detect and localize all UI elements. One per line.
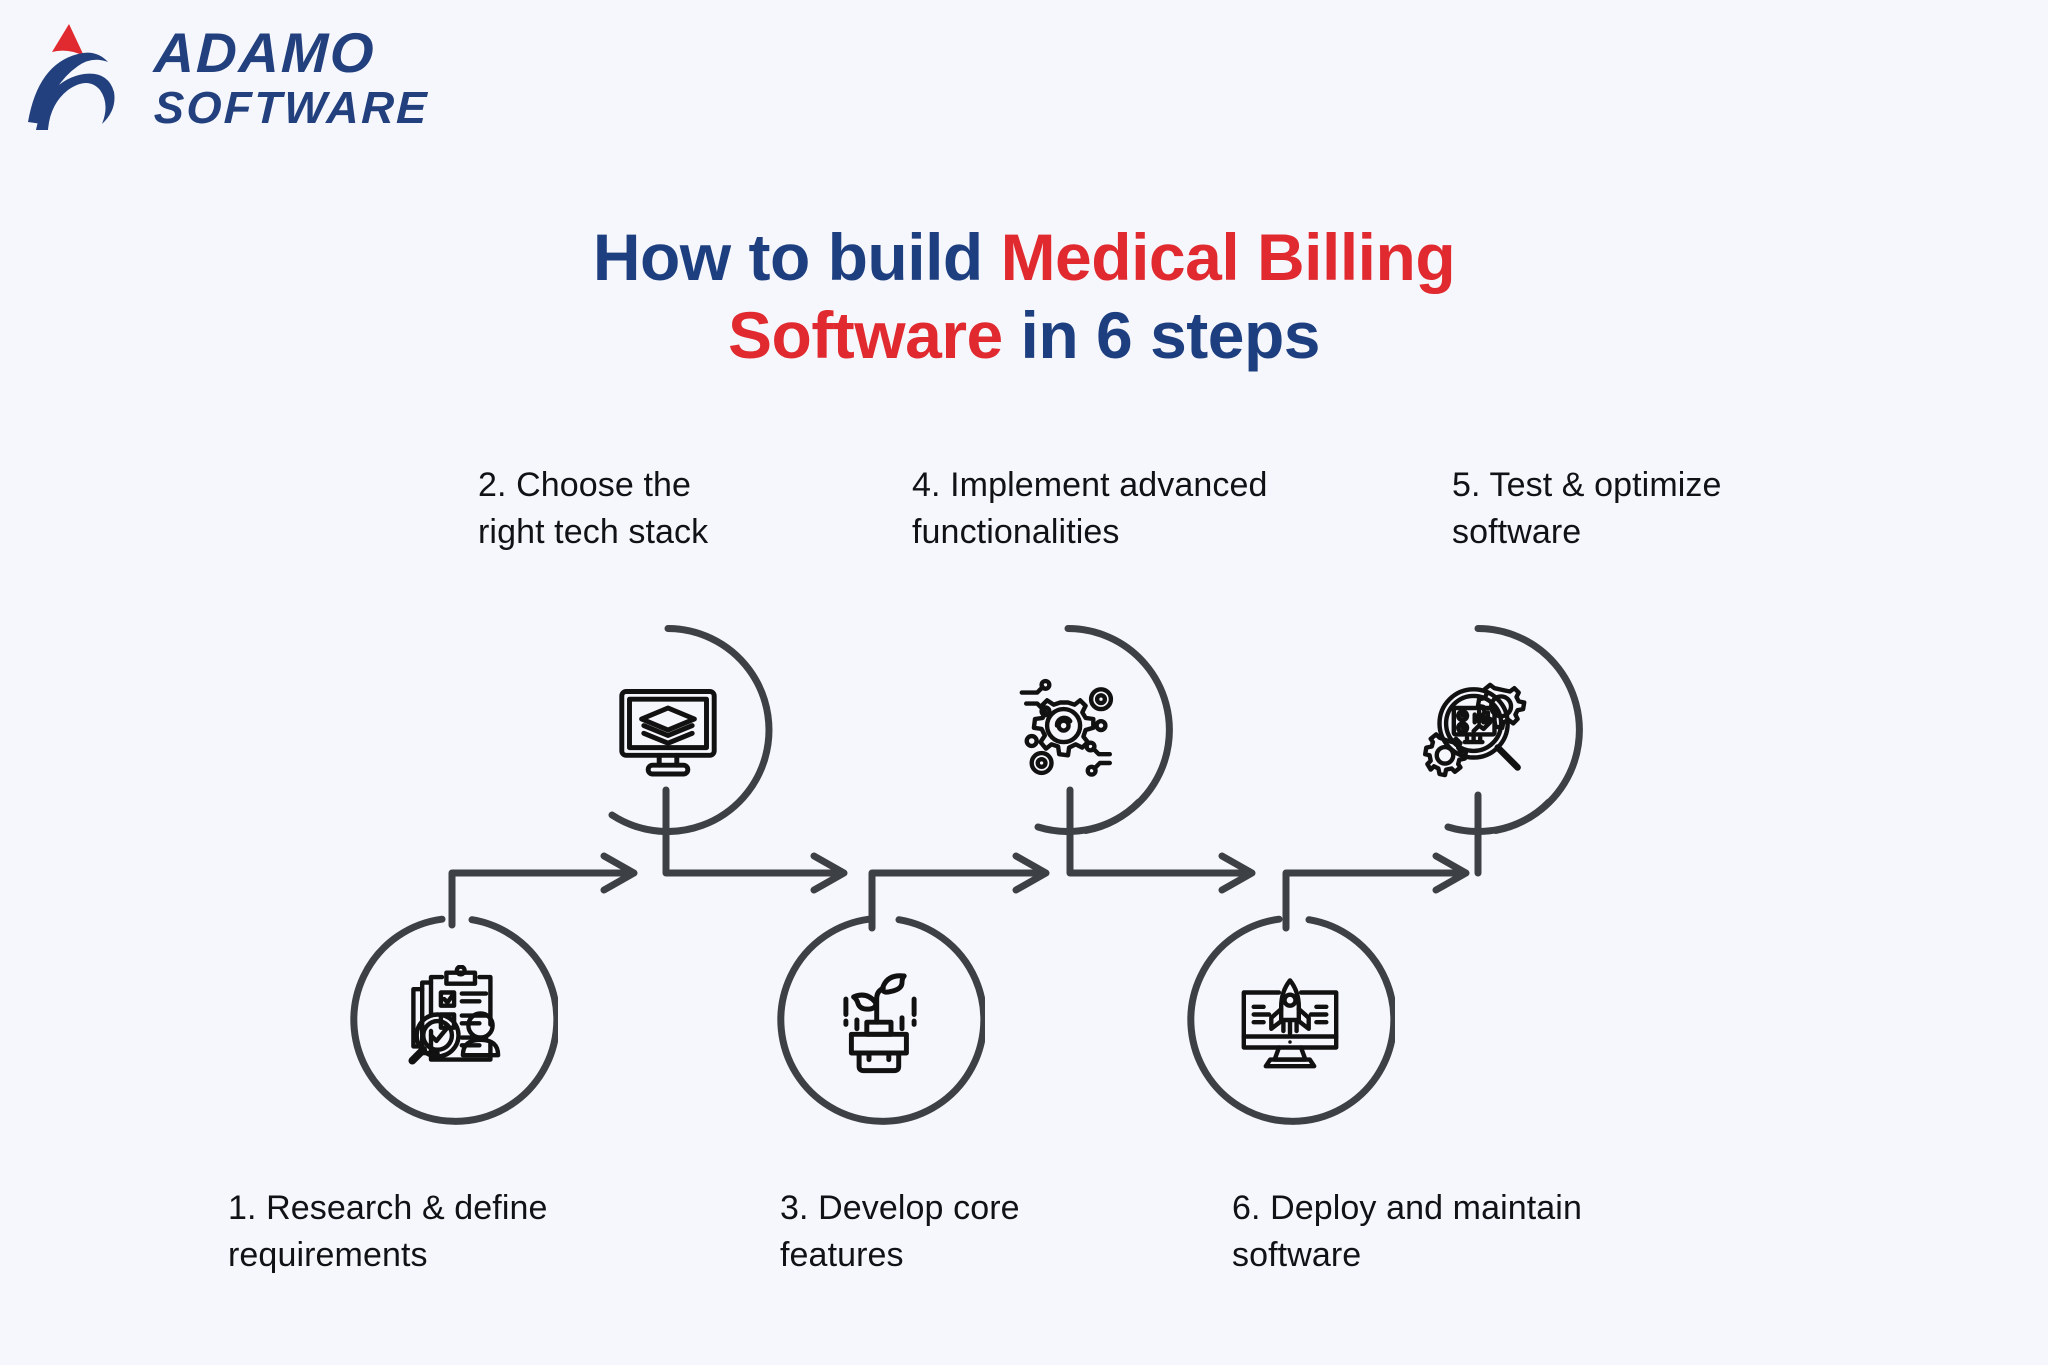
node-circle-step-6 [1185, 915, 1395, 1125]
step-label-2-line-2: right tech stack [478, 509, 808, 556]
step-label-6: 6. Deploy and maintain software [1232, 1185, 1712, 1279]
growing-plant-box-icon [825, 965, 935, 1075]
step-label-2-line-1: 2. Choose the [478, 462, 808, 509]
arrowhead-3-to-4 [1016, 856, 1046, 890]
step-label-5: 5. Test & optimize software [1452, 462, 1852, 556]
flow-node-step-4[interactable] [963, 625, 1173, 835]
title-part-red-1: Medical Billing [1001, 220, 1456, 294]
node-circle-step-3 [775, 915, 985, 1125]
step-label-3: 3. Develop core features [780, 1185, 1110, 1279]
node-circle-step-2 [563, 625, 773, 835]
brand-wordmark: ADAMO SOFTWARE [154, 25, 429, 130]
step-label-4-line-2: functionalities [912, 509, 1412, 556]
step-label-5-line-1: 5. Test & optimize [1452, 462, 1852, 509]
clipboard-magnifier-person-icon [398, 965, 508, 1075]
page-title: How to build Medical Billing Software in… [0, 219, 2048, 375]
node-circle-step-4 [963, 625, 1173, 835]
gear-network-icon [1013, 675, 1123, 785]
step-label-3-line-1: 3. Develop core [780, 1185, 1110, 1232]
flow-connectors [0, 0, 2048, 1365]
title-part-navy-2: in 6 steps [1003, 298, 1320, 372]
connector-5-to-6 [1286, 873, 1462, 928]
step-label-5-line-2: software [1452, 509, 1852, 556]
connector-3-to-4 [872, 873, 1042, 928]
arrowhead-1-to-2 [604, 856, 634, 890]
monitor-rocket-icon [1235, 965, 1345, 1075]
flow-node-step-1[interactable] [348, 915, 558, 1125]
monitor-layers-icon [613, 675, 723, 785]
arrowhead-4-to-5 [1222, 856, 1252, 890]
title-part-navy-1: How to build [593, 220, 1001, 294]
step-label-4-line-1: 4. Implement advanced [912, 462, 1412, 509]
step-label-1: 1. Research & define requirements [228, 1185, 658, 1279]
connector-4-to-5 [1070, 790, 1248, 873]
brand-name-line-1: ADAMO [153, 25, 430, 81]
step-label-2: 2. Choose the right tech stack [478, 462, 808, 556]
title-part-red-2: Software [728, 298, 1003, 372]
step-label-1-line-2: requirements [228, 1232, 658, 1279]
brand-logo: ADAMO SOFTWARE [22, 14, 482, 134]
node-circle-step-5 [1373, 625, 1583, 835]
flow-node-step-3[interactable] [775, 915, 985, 1125]
step-label-3-line-2: features [780, 1232, 1110, 1279]
arrowhead-2-to-3 [814, 856, 844, 890]
brand-name-line-2: SOFTWARE [153, 85, 430, 130]
flow-node-step-2[interactable] [563, 625, 773, 835]
step-label-6-line-2: software [1232, 1232, 1712, 1279]
step-label-4: 4. Implement advanced functionalities [912, 462, 1412, 556]
flow-node-step-5[interactable] [1373, 625, 1583, 835]
flow-node-step-6[interactable] [1185, 915, 1395, 1125]
arrowhead-5-to-6 [1436, 856, 1466, 890]
connector-2-to-3 [666, 790, 840, 873]
connector-1-to-2 [452, 873, 630, 925]
step-label-6-line-1: 6. Deploy and maintain [1232, 1185, 1712, 1232]
node-circle-step-1 [348, 915, 558, 1125]
adamo-swoosh-logo-icon [22, 18, 132, 130]
process-flow-diagram: 2. Choose the right tech stack [0, 0, 2048, 1365]
magnifier-dashboard-gears-icon [1423, 675, 1533, 785]
step-label-1-line-1: 1. Research & define [228, 1185, 658, 1232]
